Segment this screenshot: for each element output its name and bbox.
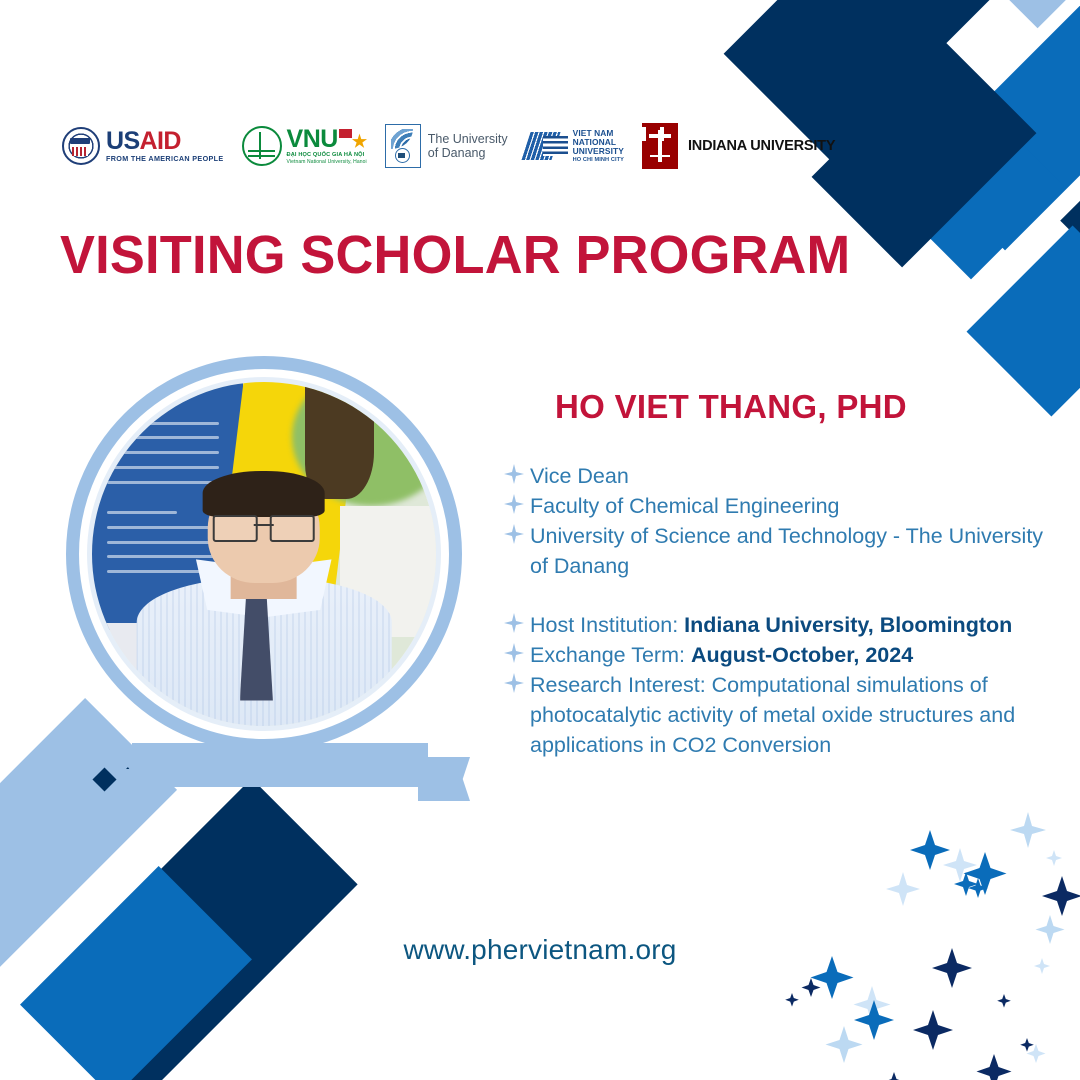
list-item: Exchange Term: August-October, 2024 — [504, 641, 1060, 671]
danang-line1: The University — [428, 132, 508, 146]
indiana-university-logo: INDIANA UNIVERSITY — [642, 120, 835, 172]
university-of-danang-logo: The University of Danang — [385, 120, 508, 172]
sparkle-four-point-icon — [504, 494, 524, 524]
scholar-photo — [66, 356, 462, 752]
affiliation-2: University of Science and Technology - T… — [530, 522, 1060, 581]
host-institution-value: Indiana University, Bloomington — [684, 613, 1012, 637]
usaid-word-us: US — [106, 127, 140, 155]
sparkle-four-point-icon — [504, 673, 524, 703]
host-institution-label: Host Institution: — [530, 613, 684, 637]
poster-canvas: USAID FROM THE AMERICAN PEOPLE VNU★ ĐẠI … — [0, 0, 1080, 1080]
vnu-subtitle-en: Vietnam National University, Hanoi — [287, 160, 367, 165]
vnu-subtitle-vi: ĐẠI HỌC QUỐC GIA HÀ NỘI — [287, 153, 367, 159]
scholar-name: HO VIET THANG, PHD — [555, 388, 907, 426]
star-icon: ★ — [352, 132, 367, 151]
usaid-tagline: FROM THE AMERICAN PEOPLE — [106, 155, 224, 162]
vnu-emblem-icon — [242, 126, 282, 166]
vnuhcm-line4: HO CHI MINH CITY — [573, 157, 624, 163]
danang-shield-icon — [385, 124, 421, 168]
ribbon-banner-icon — [90, 743, 470, 801]
details-spacer — [504, 581, 1060, 611]
vnuhcm-line3: UNIVERSITY — [573, 147, 624, 156]
sparkle-four-point-icon — [504, 613, 524, 643]
page-title: VISITING SCHOLAR PROGRAM — [60, 224, 850, 286]
danang-line2: of Danang — [428, 146, 508, 160]
scholar-details: Vice Dean Faculty of Chemical Engineerin… — [504, 462, 1060, 760]
photo-ring-border — [66, 356, 462, 752]
vietnam-flag-icon — [339, 129, 352, 138]
affiliation-0: Vice Dean — [530, 462, 1060, 492]
sparkle-four-point-icon — [504, 524, 524, 554]
list-item: Vice Dean — [504, 462, 1060, 492]
affiliation-1: Faculty of Chemical Engineering — [530, 492, 1060, 522]
vnu-acronym: VNU — [287, 125, 338, 153]
diamond-accent-icon — [92, 767, 116, 791]
partner-logo-row: USAID FROM THE AMERICAN PEOPLE VNU★ ĐẠI … — [62, 118, 835, 174]
usaid-word-aid: AID — [140, 127, 181, 155]
list-item: University of Science and Technology - T… — [504, 522, 1060, 581]
list-item: Host Institution: Indiana University, Bl… — [504, 611, 1060, 641]
sparkle-four-point-icon — [504, 464, 524, 494]
exchange-term-value: August-October, 2024 — [691, 643, 913, 667]
vnu-hcm-logo: VIET NAM NATIONAL UNIVERSITY HO CHI MINH… — [526, 120, 624, 172]
vnu-logo: VNU★ ĐẠI HỌC QUỐC GIA HÀ NỘI Vietnam Nat… — [242, 120, 367, 172]
usaid-logo: USAID FROM THE AMERICAN PEOPLE — [62, 120, 224, 172]
sparkle-four-point-icon — [504, 643, 524, 673]
exchange-term-label: Exchange Term: — [530, 643, 691, 667]
vnuhcm-stripes-icon — [526, 128, 568, 164]
list-item: Research Interest: Computational simulat… — [504, 671, 1060, 760]
list-item: Faculty of Chemical Engineering — [504, 492, 1060, 522]
research-interest: Research Interest: Computational simulat… — [530, 671, 1060, 760]
iu-trident-icon — [642, 123, 678, 169]
usaid-seal-icon — [62, 127, 100, 165]
website-url[interactable]: www.phervietnam.org — [0, 934, 1080, 966]
iu-label: INDIANA UNIVERSITY — [688, 138, 835, 154]
